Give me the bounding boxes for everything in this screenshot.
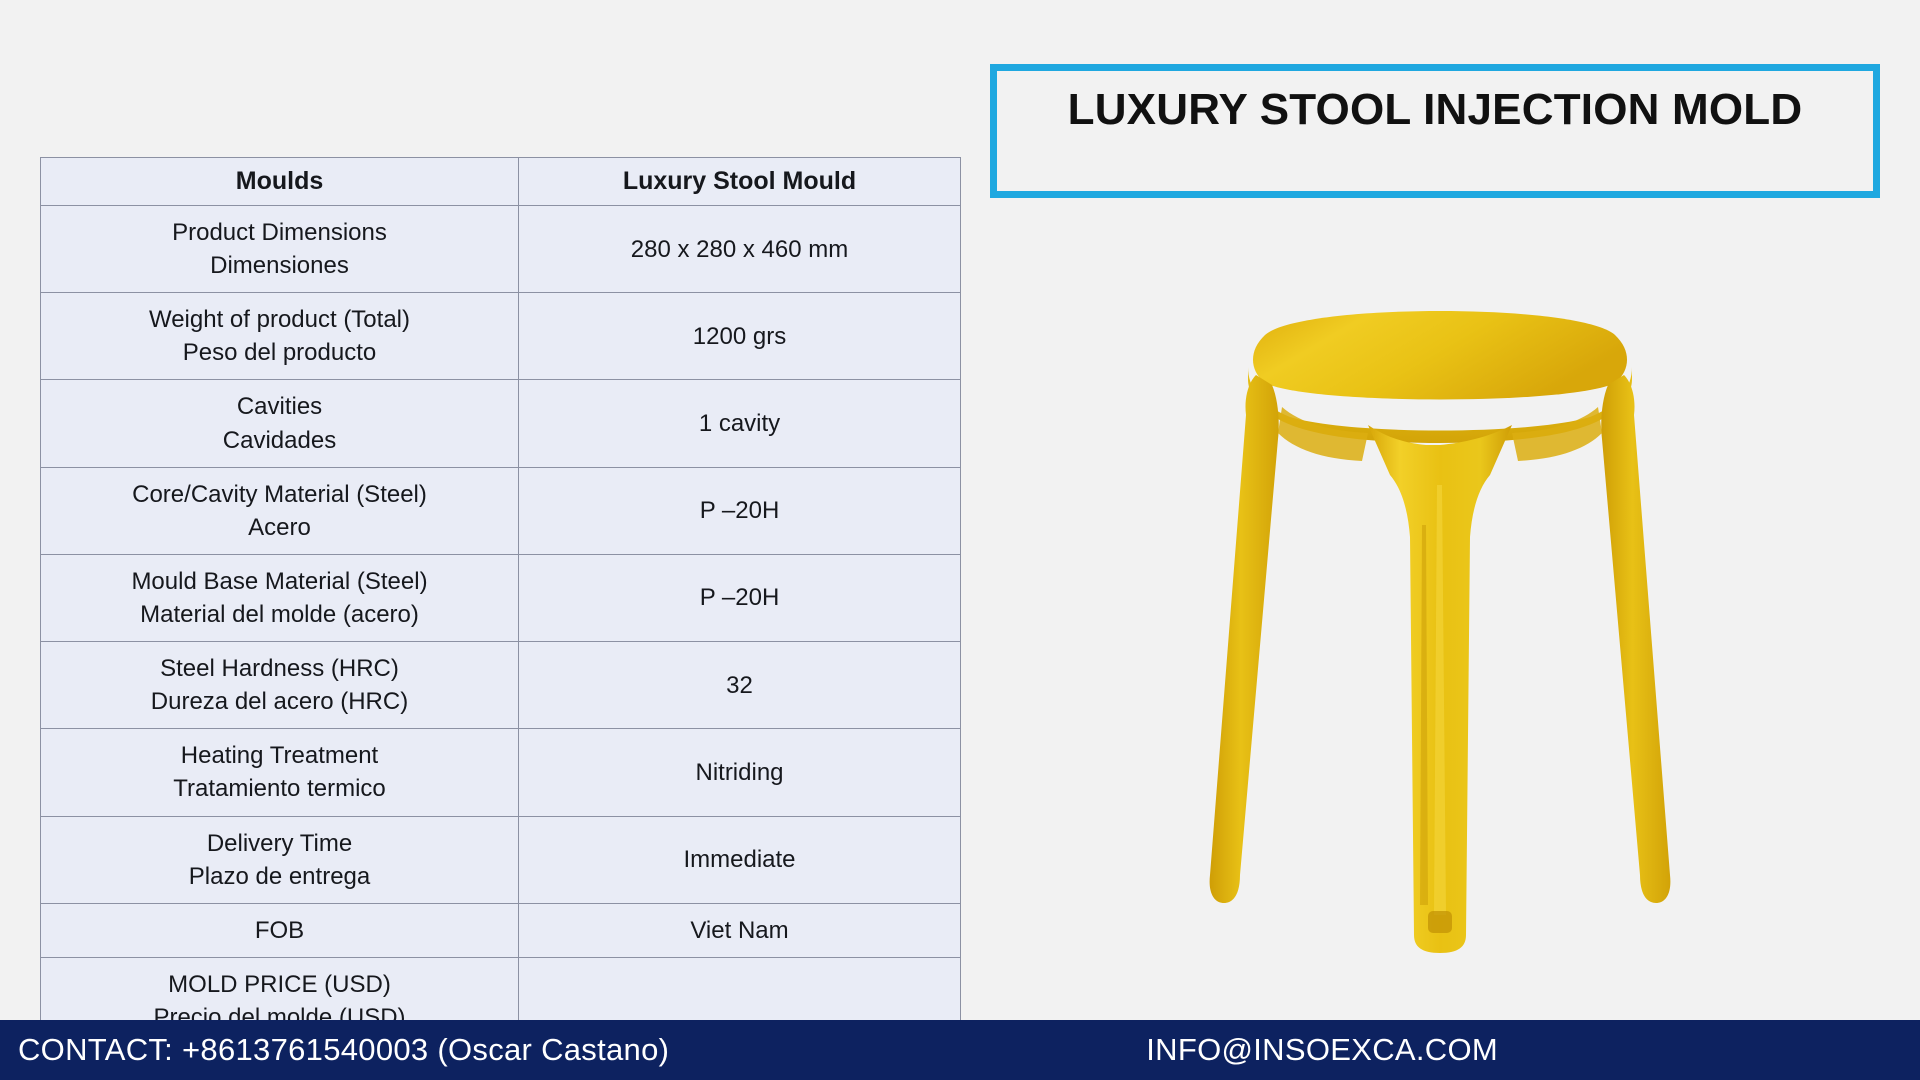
row-label-en: Delivery Time <box>55 827 504 860</box>
stool-illustration-icon <box>1190 275 1690 955</box>
page-title: LUXURY STOOL INJECTION MOLD <box>1068 85 1803 135</box>
row-label-en: MOLD PRICE (USD) <box>55 968 504 1001</box>
table-row: Delivery Time Plazo de entrega Immediate <box>41 816 961 903</box>
row-label-es: Cavidades <box>55 424 504 457</box>
row-label-en: Steel Hardness (HRC) <box>55 652 504 685</box>
row-label-es: Peso del producto <box>55 336 504 369</box>
table-header-row: Moulds Luxury Stool Mould <box>41 158 961 206</box>
title-panel: LUXURY STOOL INJECTION MOLD <box>990 64 1880 198</box>
contact-footer: CONTACT: +8613761540003 (Oscar Castano) … <box>0 1020 1920 1080</box>
row-label-en: Core/Cavity Material (Steel) <box>55 478 504 511</box>
row-label-weight: Weight of product (Total) Peso del produ… <box>41 293 519 380</box>
row-label-en: Weight of product (Total) <box>55 303 504 336</box>
row-value-product-dimensions: 280 x 280 x 460 mm <box>519 206 961 293</box>
row-label-en: Cavities <box>55 390 504 423</box>
row-value-fob: Viet Nam <box>519 903 961 957</box>
row-label-es: Dimensiones <box>55 249 504 282</box>
product-image <box>1190 275 1690 955</box>
row-value-core-cavity-material: P –20H <box>519 467 961 554</box>
table-row: Steel Hardness (HRC) Dureza del acero (H… <box>41 642 961 729</box>
row-value-steel-hardness: 32 <box>519 642 961 729</box>
row-value-weight: 1200 grs <box>519 293 961 380</box>
table-row: Weight of product (Total) Peso del produ… <box>41 293 961 380</box>
row-label-es: Material del molde (acero) <box>55 598 504 631</box>
table-row: Mould Base Material (Steel) Material del… <box>41 554 961 641</box>
spec-table-container: Moulds Luxury Stool Mould Product Dimens… <box>40 157 960 1045</box>
row-label-fob: FOB <box>41 903 519 957</box>
table-row: Cavities Cavidades 1 cavity <box>41 380 961 467</box>
row-label-es: Acero <box>55 511 504 544</box>
footer-email-text: INFO@INSOEXCA.COM <box>1146 1032 1498 1068</box>
row-label-es: Tratamiento termico <box>55 772 504 805</box>
row-label-es: Dureza del acero (HRC) <box>55 685 504 718</box>
row-label-cavities: Cavities Cavidades <box>41 380 519 467</box>
footer-contact-text: CONTACT: +8613761540003 (Oscar Castano) <box>18 1032 669 1068</box>
row-label-en: Product Dimensions <box>55 216 504 249</box>
row-label-en: Mould Base Material (Steel) <box>55 565 504 598</box>
row-label-steel-hardness: Steel Hardness (HRC) Dureza del acero (H… <box>41 642 519 729</box>
row-label-heating-treatment: Heating Treatment Tratamiento termico <box>41 729 519 816</box>
mould-spec-table: Moulds Luxury Stool Mould Product Dimens… <box>40 157 961 1045</box>
table-row: Product Dimensions Dimensiones 280 x 280… <box>41 206 961 293</box>
row-label-core-cavity-material: Core/Cavity Material (Steel) Acero <box>41 467 519 554</box>
table-row: Heating Treatment Tratamiento termico Ni… <box>41 729 961 816</box>
table-row: FOB Viet Nam <box>41 903 961 957</box>
row-label-en: Heating Treatment <box>55 739 504 772</box>
row-value-heating-treatment: Nitriding <box>519 729 961 816</box>
row-label-mould-base-material: Mould Base Material (Steel) Material del… <box>41 554 519 641</box>
row-value-cavities: 1 cavity <box>519 380 961 467</box>
row-label-en: FOB <box>55 914 504 947</box>
row-label-es: Plazo de entrega <box>55 860 504 893</box>
column-header-moulds: Moulds <box>41 158 519 206</box>
row-value-delivery-time: Immediate <box>519 816 961 903</box>
table-row: Core/Cavity Material (Steel) Acero P –20… <box>41 467 961 554</box>
row-label-delivery-time: Delivery Time Plazo de entrega <box>41 816 519 903</box>
column-header-product: Luxury Stool Mould <box>519 158 961 206</box>
row-label-product-dimensions: Product Dimensions Dimensiones <box>41 206 519 293</box>
row-value-mould-base-material: P –20H <box>519 554 961 641</box>
